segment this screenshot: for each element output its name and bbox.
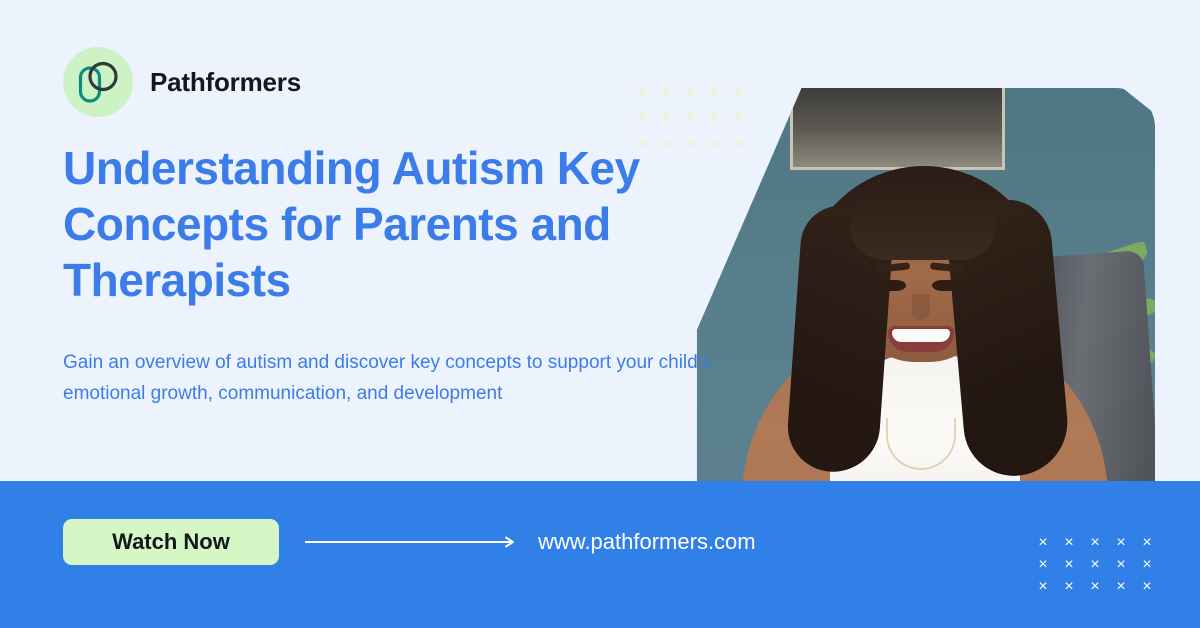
page-title: Understanding Autism Key Concepts for Pa… <box>63 140 763 308</box>
top-x-mark-icon: × <box>726 78 750 104</box>
top-x-mark-icon: × <box>726 104 750 130</box>
brand-name: Pathformers <box>150 67 301 98</box>
brand-logo-row: Pathformers <box>63 47 301 117</box>
top-x-mark-icon: × <box>678 104 702 130</box>
top-x-mark-icon: × <box>630 104 654 130</box>
arrow-right-icon <box>305 536 520 548</box>
top-x-mark-icon: × <box>702 78 726 104</box>
website-url[interactable]: www.pathformers.com <box>538 529 756 555</box>
top-x-mark-icon: × <box>654 104 678 130</box>
call-to-action-row: Watch Now www.pathformers.com <box>63 519 756 565</box>
top-x-mark-icon: × <box>630 78 654 104</box>
pathformers-p-monogram-icon <box>63 47 133 117</box>
top-x-mark-icon: × <box>702 104 726 130</box>
promo-banner: ××××××××××××××× Pathformers Understandin… <box>0 0 1200 628</box>
watch-now-button[interactable]: Watch Now <box>63 519 279 565</box>
top-x-mark-icon: × <box>654 78 678 104</box>
top-x-mark-icon: × <box>678 78 702 104</box>
page-subtitle: Gain an overview of autism and discover … <box>63 348 763 410</box>
